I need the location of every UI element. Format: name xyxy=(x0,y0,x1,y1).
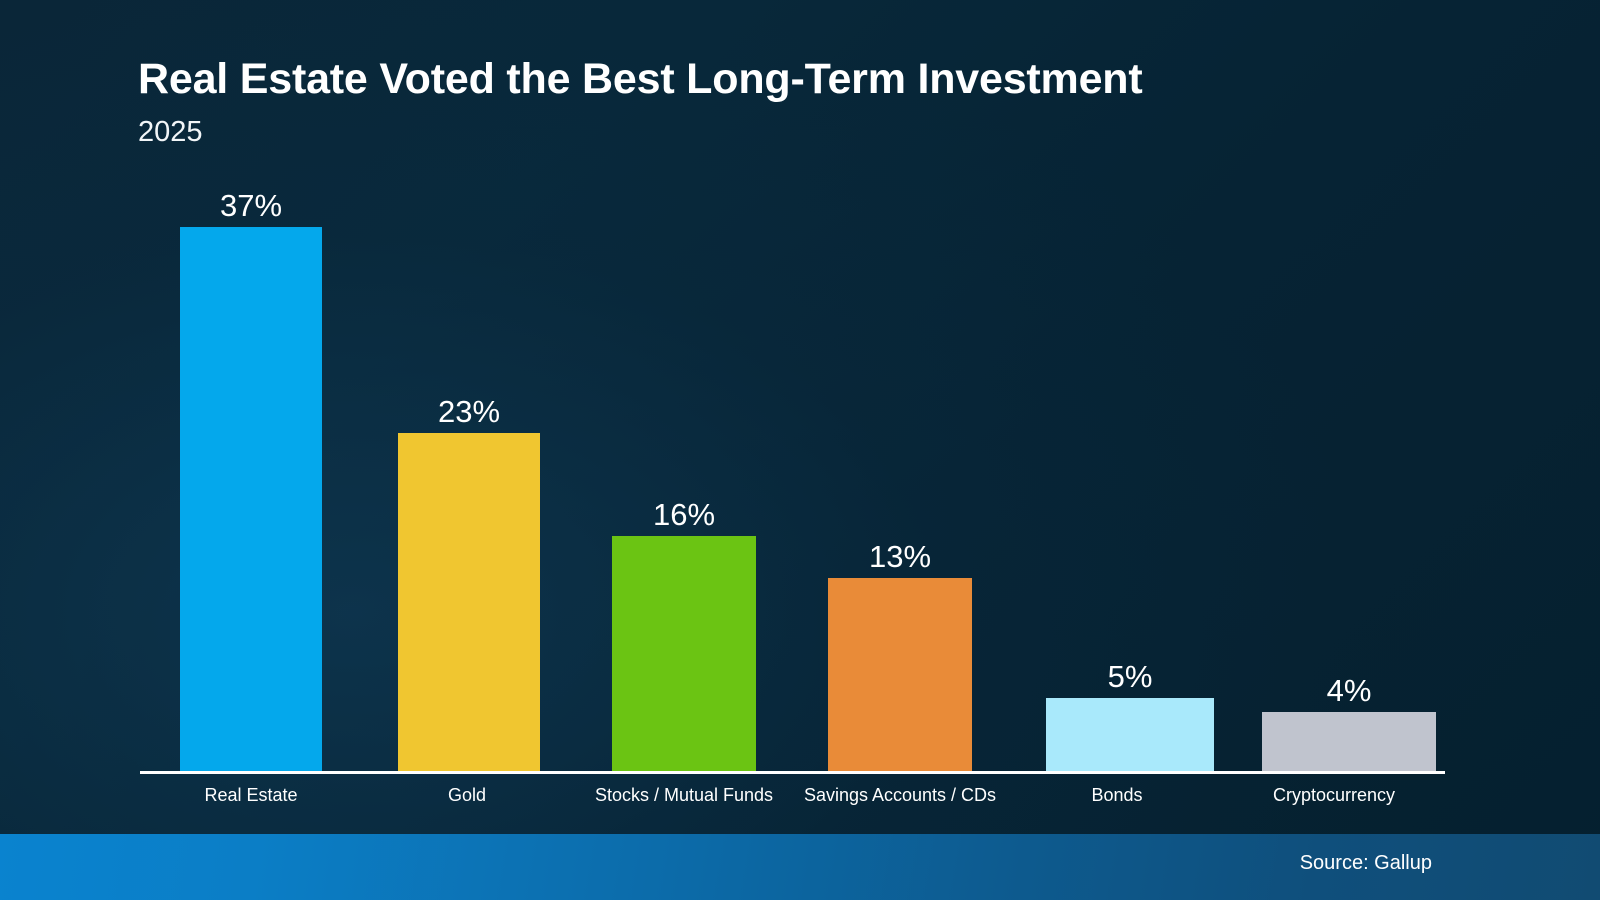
bar-chart-plot-area: 37%23%16%13%5%4% Real EstateGoldStocks /… xyxy=(0,0,1600,900)
bar-group: 4% xyxy=(1262,712,1436,772)
bar xyxy=(1046,698,1214,772)
x-axis-tick-label: Gold xyxy=(448,785,486,807)
x-axis-tick-label: Stocks / Mutual Funds xyxy=(595,785,773,807)
bar xyxy=(398,433,540,772)
footer-band: Source: Gallup xyxy=(0,834,1600,900)
bar-value-label: 4% xyxy=(1327,675,1372,706)
x-axis-tick-label: Bonds xyxy=(1091,785,1142,807)
x-axis-tick-labels: Real EstateGoldStocks / Mutual FundsSavi… xyxy=(0,785,1600,815)
x-axis-tick-label: Cryptocurrency xyxy=(1273,785,1395,807)
bar-group: 13% xyxy=(828,578,972,772)
bar xyxy=(180,227,322,772)
bar-group: 37% xyxy=(180,227,322,772)
x-axis-tick-label: Savings Accounts / CDs xyxy=(804,785,996,807)
bar-group: 5% xyxy=(1046,698,1214,772)
bar-value-label: 16% xyxy=(653,499,715,530)
x-axis-line xyxy=(140,771,1445,774)
source-label: Source: Gallup xyxy=(1300,851,1432,875)
bar xyxy=(612,536,756,772)
bar-group: 23% xyxy=(398,433,540,772)
x-axis-tick-label: Real Estate xyxy=(204,785,297,807)
bar xyxy=(828,578,972,772)
chart-canvas: Real Estate Voted the Best Long-Term Inv… xyxy=(0,0,1600,900)
bar-value-label: 13% xyxy=(869,541,931,572)
bar xyxy=(1262,712,1436,772)
bar-group: 16% xyxy=(612,536,756,772)
bar-value-label: 5% xyxy=(1108,661,1153,692)
bar-value-label: 37% xyxy=(220,190,282,221)
bar-value-label: 23% xyxy=(438,396,500,427)
